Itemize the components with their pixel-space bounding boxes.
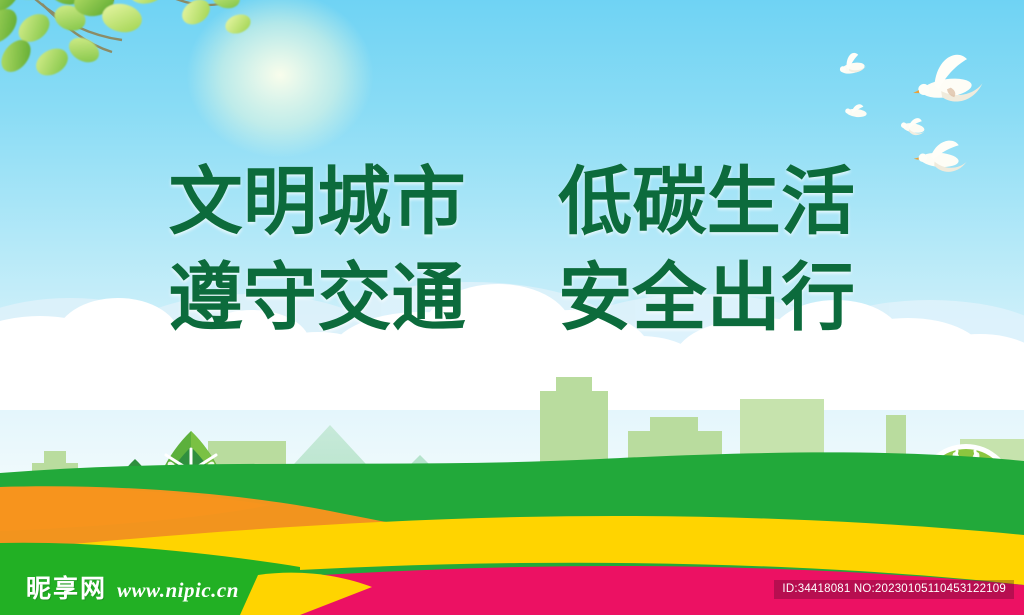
headline-block: 文明城市 低碳生活 遵守交通 安全出行 [0, 165, 1024, 357]
leaf-branch-svg [0, 0, 252, 134]
poster-canvas: 文明城市 低碳生活 遵守交通 安全出行 昵享网 www.nipic.cn ID:… [0, 0, 1024, 615]
headline-line-1-right: 低碳生活 [558, 159, 855, 245]
site-logo-name: 昵享网 [26, 569, 107, 605]
headline-line-2-right: 安全出行 [558, 255, 855, 341]
headline-line-1: 文明城市 低碳生活 [0, 165, 1024, 239]
dove-3-icon [906, 48, 990, 116]
watermark-id: ID:34418081 NO:20230105110453122109 [774, 580, 1014, 599]
headline-line-2: 遵守交通 安全出行 [0, 261, 1024, 335]
dove-2-icon [840, 96, 874, 124]
site-logo[interactable]: 昵享网 www.nipic.cn [26, 569, 239, 605]
leaf-branch-decoration [0, 0, 242, 124]
dove-1-icon [832, 46, 874, 82]
headline-line-1-left: 文明城市 [169, 159, 466, 245]
headline-line-2-left: 遵守交通 [169, 255, 466, 341]
site-logo-url: www.nipic.cn [117, 578, 239, 603]
